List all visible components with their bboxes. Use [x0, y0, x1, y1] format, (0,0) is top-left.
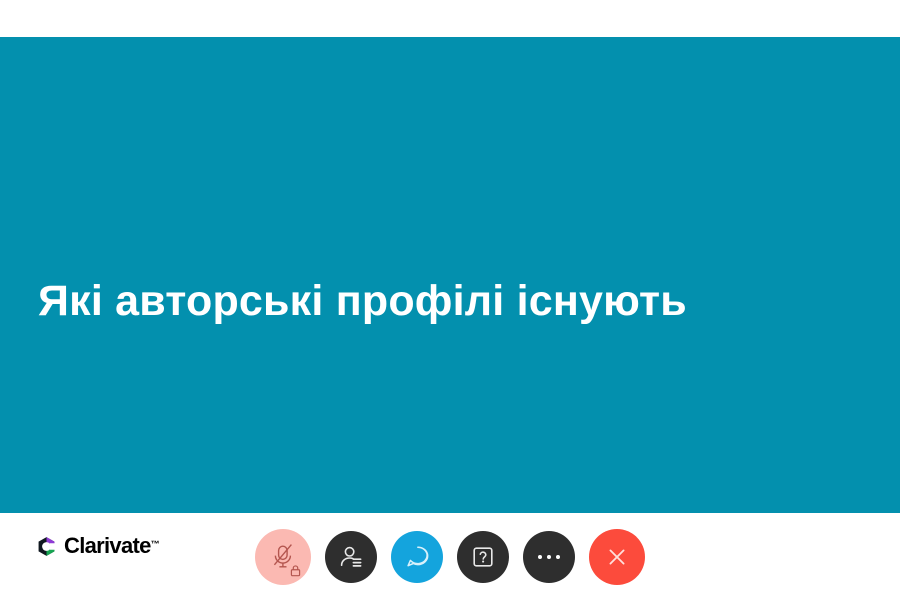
- clarivate-wordmark-text: Clarivate: [64, 533, 151, 558]
- close-x-icon: [603, 543, 631, 571]
- clarivate-wordmark: Clarivate ™: [64, 535, 151, 557]
- meeting-window: Які авторські профілі існують Clarivate …: [0, 0, 900, 600]
- chat-button[interactable]: [391, 531, 443, 583]
- participants-icon: [338, 544, 364, 570]
- meeting-control-bar: Clarivate ™: [0, 513, 900, 600]
- chat-bubble-icon: [404, 543, 431, 570]
- lock-icon: [289, 564, 302, 577]
- slide-title: Які авторські профілі існують: [38, 275, 838, 327]
- slide-canvas: Які авторські профілі існують: [0, 37, 900, 513]
- clarivate-mark-icon: [36, 536, 57, 557]
- microphone-button[interactable]: [255, 529, 311, 585]
- help-button[interactable]: [457, 531, 509, 583]
- clarivate-logo: Clarivate ™: [36, 533, 151, 559]
- trademark-symbol: ™: [151, 533, 160, 555]
- leave-meeting-button[interactable]: [589, 529, 645, 585]
- ellipsis-icon: [538, 555, 560, 559]
- question-mark-icon: [470, 544, 496, 570]
- more-options-button[interactable]: [523, 531, 575, 583]
- participants-button[interactable]: [325, 531, 377, 583]
